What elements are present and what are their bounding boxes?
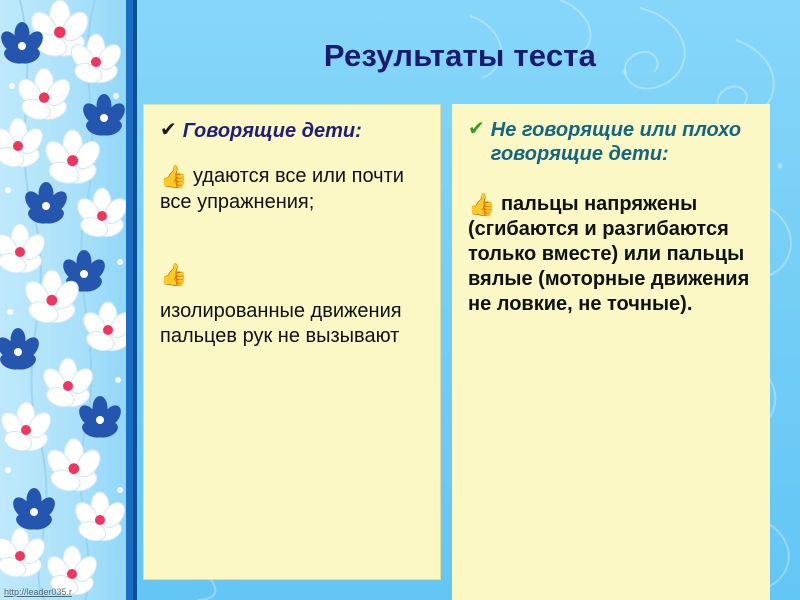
strip-edge-line-inner bbox=[133, 0, 137, 600]
left-spacer bbox=[160, 215, 424, 241]
left-content-panel: ✔ Говорящие дети: 👍 удаются все или почт… bbox=[143, 104, 441, 580]
right-heading: Не говорящие или плохо говорящие дети: bbox=[491, 118, 754, 167]
flower-border-strip bbox=[0, 0, 132, 600]
footer-url[interactable]: http://leader035.r bbox=[4, 587, 72, 597]
right-content-panel: ✔ Не говорящие или плохо говорящие дети:… bbox=[452, 104, 770, 600]
thumbs-up-icon: 👍 bbox=[160, 163, 187, 191]
flowers-icon bbox=[0, 0, 132, 600]
right-item-1-text: пальцы напряжены (сгибаются и разгибаютс… bbox=[468, 193, 749, 315]
thumbs-up-icon: 👍 bbox=[468, 191, 495, 219]
checkmark-icon: ✔ bbox=[468, 118, 485, 140]
right-heading-row: ✔ Не говорящие или плохо говорящие дети: bbox=[468, 118, 754, 167]
slide-root: Результаты теста ✔ Говорящие дети: 👍 уда… bbox=[0, 0, 800, 600]
slide-title: Результаты теста bbox=[150, 38, 770, 74]
left-item-1-text: удаются все или почти все упражнения; bbox=[160, 165, 404, 212]
right-item-1: 👍 пальцы напряжены (сгибаются и разгибаю… bbox=[468, 189, 754, 317]
thumbs-up-icon: 👍 bbox=[160, 261, 187, 289]
left-item-1: 👍 удаются все или почти все упражнения; bbox=[160, 161, 424, 214]
left-heading: Говорящие дети: bbox=[183, 119, 362, 143]
strip-edge-line bbox=[126, 0, 133, 600]
left-item-2-text: изолированные движения пальцев рук не вы… bbox=[160, 299, 424, 349]
left-item-2: 👍 изолированные движения пальцев рук не … bbox=[160, 259, 424, 350]
left-heading-row: ✔ Говорящие дети: bbox=[160, 119, 424, 143]
checkmark-icon: ✔ bbox=[160, 119, 177, 141]
